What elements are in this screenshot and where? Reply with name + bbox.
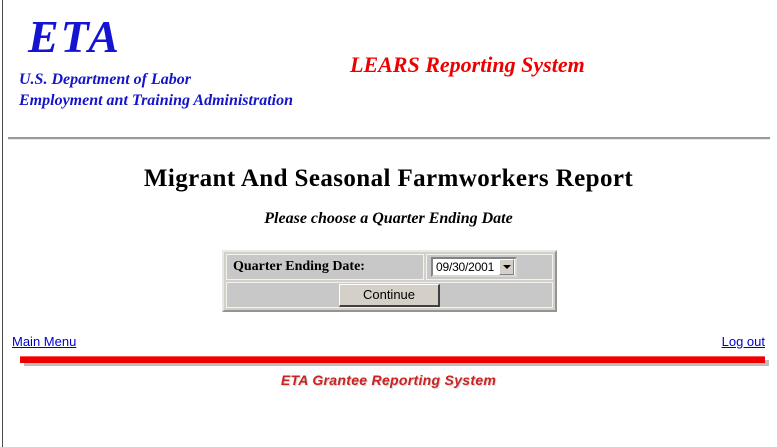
log-out-link[interactable]: Log out: [722, 334, 765, 349]
page-header: ETA U.S. Department of Labor Employment …: [0, 0, 777, 138]
header-divider: [8, 137, 770, 140]
quarter-ending-date-value: 09/30/2001: [433, 260, 499, 274]
quarter-ending-date-field-cell: 09/30/2001: [426, 254, 553, 280]
form-action-cell: Continue: [226, 282, 553, 308]
quarter-ending-date-label: Quarter Ending Date:: [226, 254, 424, 280]
continue-button[interactable]: Continue: [339, 284, 440, 307]
quarter-selection-form: Quarter Ending Date: 09/30/2001 Continue: [222, 250, 557, 312]
table-row: Continue: [226, 282, 553, 308]
page-instruction: Please choose a Quarter Ending Date: [0, 210, 777, 228]
footer-divider: [20, 356, 765, 366]
main-menu-link[interactable]: Main Menu: [12, 334, 76, 349]
page-title: Migrant And Seasonal Farmworkers Report: [0, 165, 777, 193]
agency-name-line-2: Employment ant Training Administration: [19, 92, 293, 110]
eta-logo: ETA: [28, 14, 121, 60]
agency-name-line-1: U.S. Department of Labor: [19, 71, 191, 89]
footer-brand-text: ETA Grantee Reporting System: [0, 372, 777, 388]
quarter-ending-date-select[interactable]: 09/30/2001: [431, 257, 517, 277]
chevron-down-icon[interactable]: [499, 259, 514, 275]
system-title: LEARS Reporting System: [350, 52, 585, 78]
table-row: Quarter Ending Date: 09/30/2001: [226, 254, 553, 280]
